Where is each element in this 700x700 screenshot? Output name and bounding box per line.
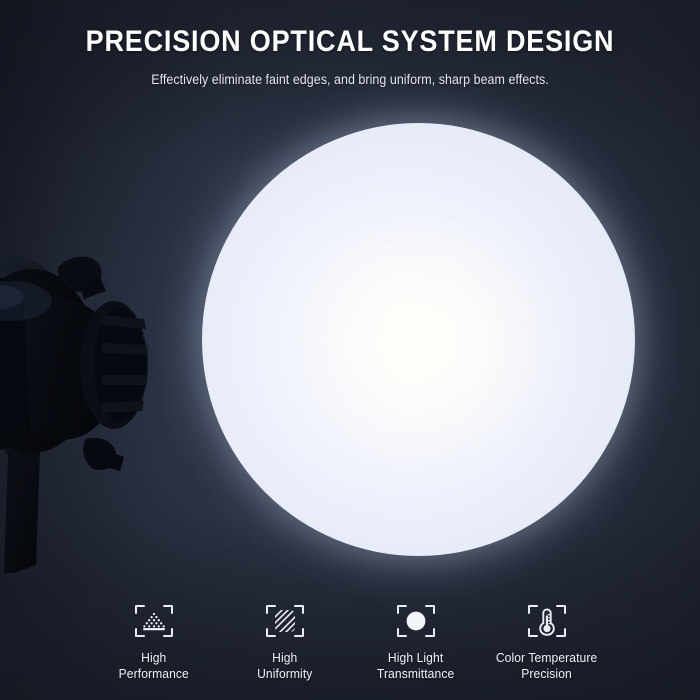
feature-item-color-temperature-precision: Color Temperature Precision <box>481 602 612 682</box>
feature-list: High Performance <box>0 602 700 682</box>
light-beam-hotspot <box>300 222 550 462</box>
feature-label: High Light Transmittance <box>377 650 454 682</box>
thermometer-icon <box>526 602 568 640</box>
feature-label: High Uniformity <box>257 650 312 682</box>
feature-label-line2: Uniformity <box>257 666 312 681</box>
feature-item-high-uniformity: High Uniformity <box>219 602 350 682</box>
feature-item-high-light-transmittance: High Light Transmittance <box>350 602 481 682</box>
header: PRECISION OPTICAL SYSTEM DESIGN Effectiv… <box>0 26 700 87</box>
feature-label-line1: Color Temperature <box>496 650 597 665</box>
feature-label-line1: High Light <box>388 650 443 665</box>
feature-label: Color Temperature Precision <box>496 650 597 682</box>
feature-label-line1: High <box>272 650 297 665</box>
diagonal-hatch-square-icon <box>264 602 306 640</box>
halftone-triangle-icon <box>133 602 175 640</box>
spotlight-fixture-silhouette <box>0 243 224 573</box>
feature-label-line2: Precision <box>521 666 572 681</box>
feature-label-line2: Performance <box>118 666 188 681</box>
page-subtitle: Effectively eliminate faint edges, and b… <box>25 72 676 87</box>
feature-label-line2: Transmittance <box>377 666 454 681</box>
feature-label: High Performance <box>118 650 188 682</box>
feature-item-high-performance: High Performance <box>88 602 219 682</box>
filled-circle-icon <box>395 602 437 640</box>
feature-label-line1: High <box>141 650 166 665</box>
page-title: PRECISION OPTICAL SYSTEM DESIGN <box>35 26 665 58</box>
promo-banner: PRECISION OPTICAL SYSTEM DESIGN Effectiv… <box>0 0 700 700</box>
